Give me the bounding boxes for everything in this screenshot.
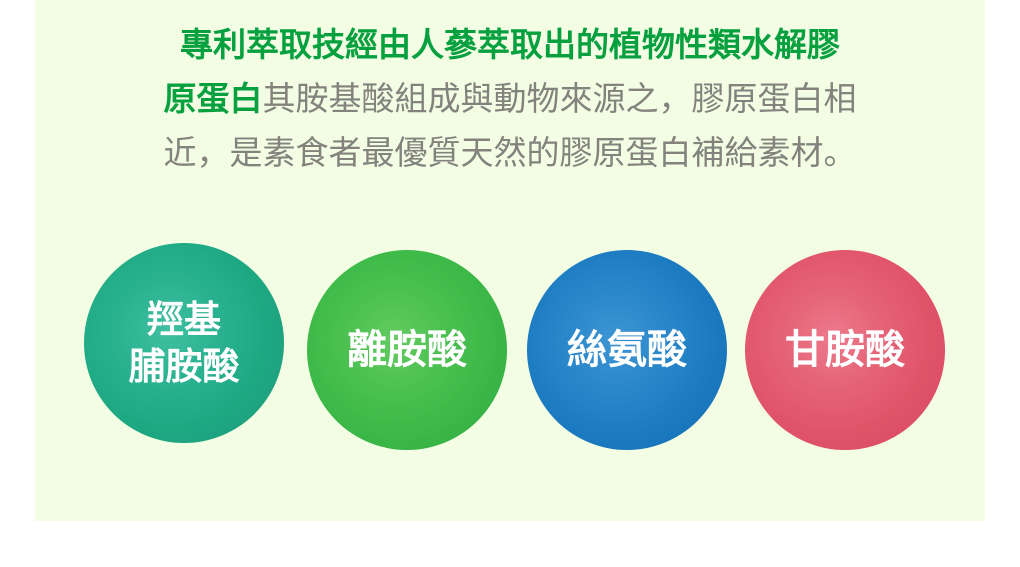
bubble-lysine: 離胺酸 <box>307 250 507 450</box>
amino-acid-bubble-group: 羥基 脯胺酸 離胺酸 絲氨酸 甘胺酸 <box>0 0 1020 567</box>
infographic-canvas: 專利萃取技經由人蔘萃取出的植物性類水解膠 原蛋白其胺基酸組成與動物來源之，膠原蛋… <box>0 0 1020 567</box>
bubble-label: 羥基 脯胺酸 <box>129 296 240 390</box>
bubble-hydroxyproline: 羥基 脯胺酸 <box>84 243 284 443</box>
bubble-label: 離胺酸 <box>347 327 467 374</box>
bubble-label: 絲氨酸 <box>567 327 687 374</box>
bubble-glycine: 甘胺酸 <box>745 250 945 450</box>
bubble-label: 甘胺酸 <box>785 327 905 374</box>
bubble-serine: 絲氨酸 <box>527 250 727 450</box>
